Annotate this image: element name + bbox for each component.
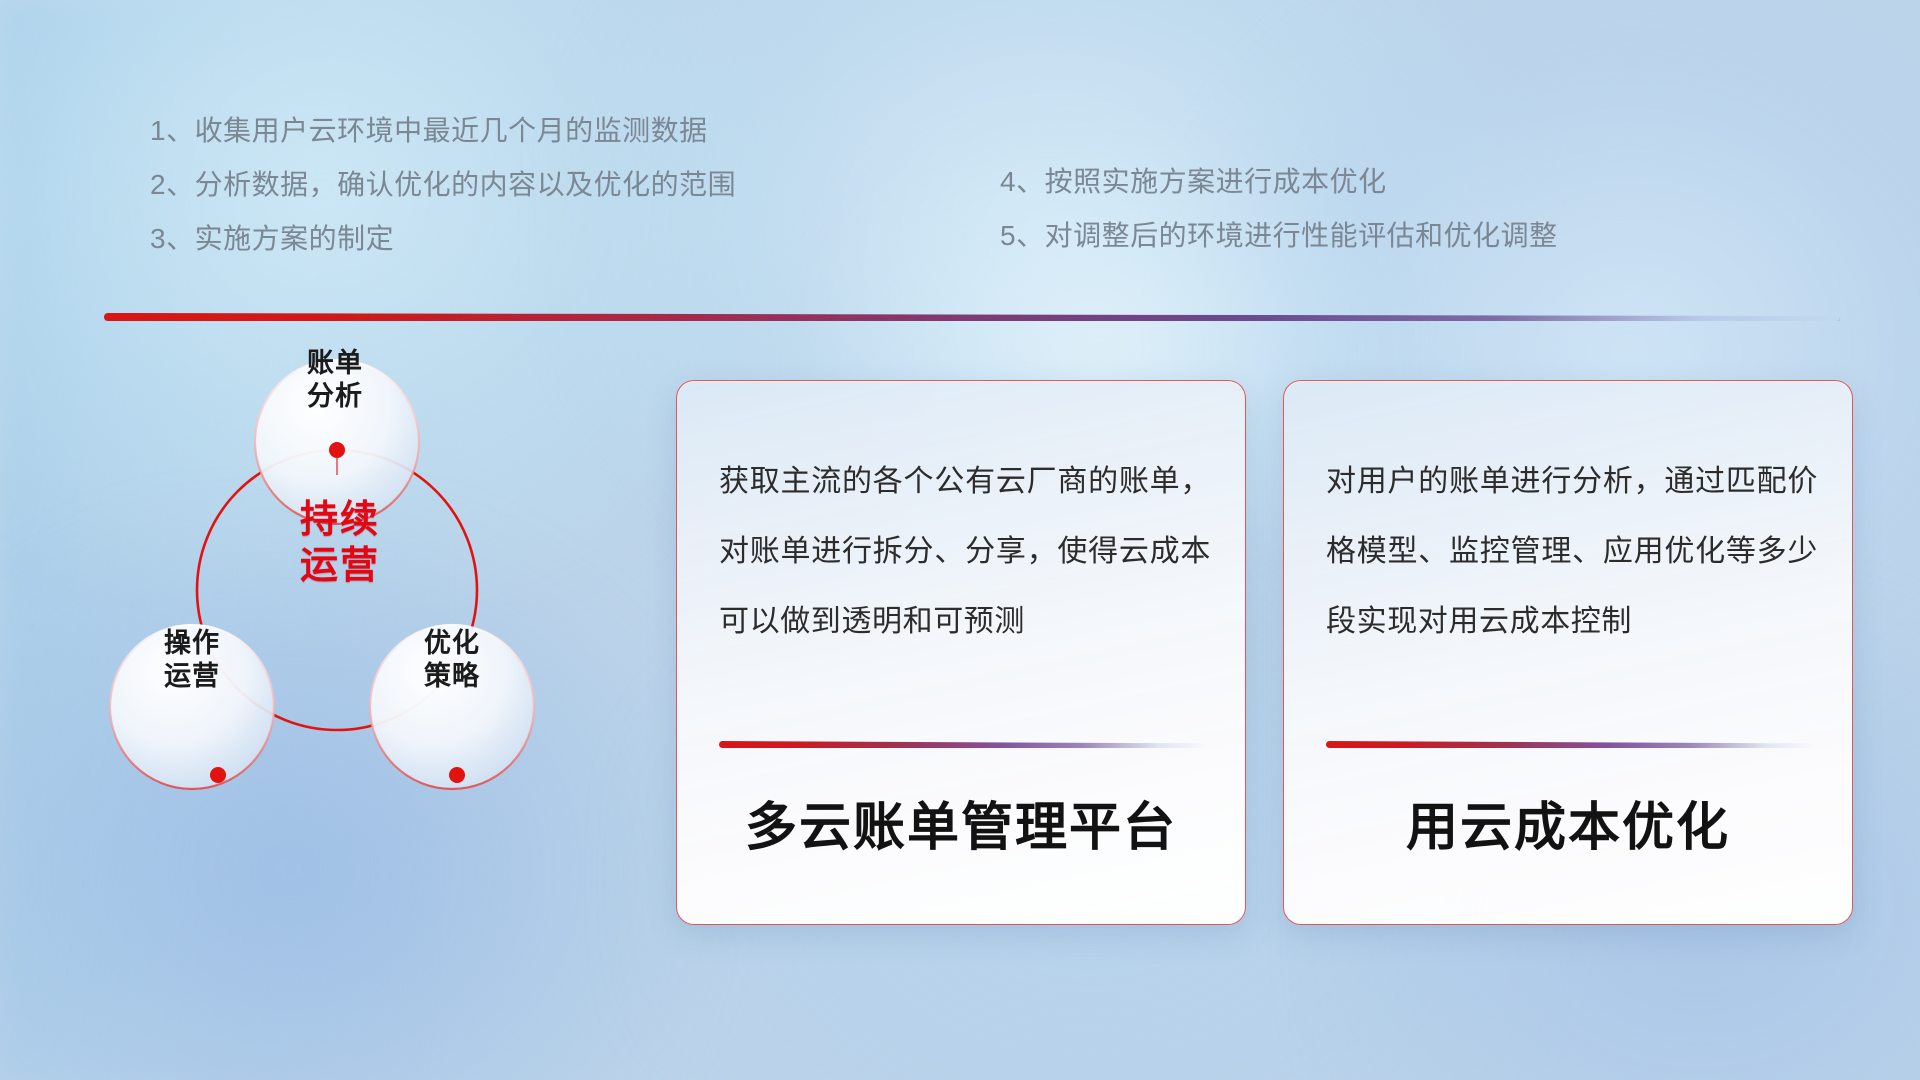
venn-label-continuous-operation: 持续 运营 (250, 497, 430, 590)
steps-right-column: 4、按照实施方案进行成本优化 5、对调整后的环境进行性能评估和优化调整 (1000, 155, 1558, 263)
venn-node-dot-bottom-right (449, 767, 465, 783)
card-1-body: 获取主流的各个公有云厂商的账单，对账单进行拆分、分享，使得云成本可以做到透明和可… (719, 447, 1211, 657)
card-cloud-cost-optimization[interactable]: 对用户的账单进行分析，通过匹配价格模型、监控管理、应用优化等多少段实现对用云成本… (1283, 380, 1853, 925)
venn-label-operation-management: 操作 运营 (112, 627, 272, 693)
card-1-accent-rule (719, 741, 1209, 748)
step-item-2: 2、分析数据，确认优化的内容以及优化的范围 (150, 158, 736, 212)
venn-node-dot-top (329, 442, 345, 458)
card-1-title: 多云账单管理平台 (677, 785, 1245, 860)
venn-label-optimization-strategy: 优化 策略 (372, 627, 532, 693)
step-item-1: 1、收集用户云环境中最近几个月的监测数据 (150, 104, 736, 158)
card-2-accent-rule (1326, 741, 1816, 748)
venn-node-dot-bottom-left (210, 767, 226, 783)
step-item-4: 4、按照实施方案进行成本优化 (1000, 155, 1558, 209)
step-item-5: 5、对调整后的环境进行性能评估和优化调整 (1000, 209, 1558, 263)
steps-section: 1、收集用户云环境中最近几个月的监测数据 2、分析数据，确认优化的内容以及优化的… (0, 0, 1920, 300)
card-2-title: 用云成本优化 (1284, 785, 1852, 860)
continuous-operation-diagram: 账单 分析 操作 运营 优化 策略 持续 运营 (100, 350, 600, 950)
card-2-body: 对用户的账单进行分析，通过匹配价格模型、监控管理、应用优化等多少段实现对用云成本… (1326, 447, 1818, 657)
step-item-3: 3、实施方案的制定 (150, 212, 736, 266)
venn-label-billing-analysis: 账单 分析 (250, 347, 420, 413)
card-multicloud-billing-platform[interactable]: 获取主流的各个公有云厂商的账单，对账单进行拆分、分享，使得云成本可以做到透明和可… (676, 380, 1246, 925)
steps-left-column: 1、收集用户云环境中最近几个月的监测数据 2、分析数据，确认优化的内容以及优化的… (150, 104, 736, 266)
